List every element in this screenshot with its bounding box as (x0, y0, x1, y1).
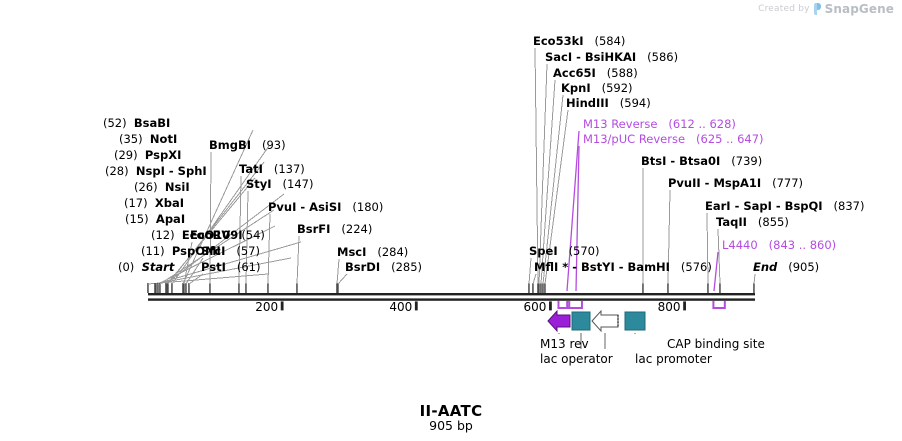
site-position: (180) (352, 200, 383, 214)
feature-glyph-arrow-left (548, 311, 570, 331)
feature-glyph-box (572, 312, 590, 330)
primer-leader-2 (714, 252, 718, 291)
site-name: BsrDI (345, 260, 380, 274)
site-label[interactable]: (15) ApaI (125, 213, 185, 226)
cut-mark-11 (185, 283, 187, 293)
feature-label[interactable]: lac operator (540, 352, 613, 366)
site-position: (285) (391, 260, 422, 274)
site-name: End (753, 260, 777, 274)
ruler-tick-400 (415, 301, 418, 310)
cut-mark-15 (245, 283, 247, 293)
primer-name: L4440 (722, 238, 758, 252)
site-name: Start (142, 260, 175, 274)
site-position: (29) (114, 148, 138, 162)
site-label[interactable]: Acc65I (588) (553, 67, 638, 80)
primer-range: (612 .. 628) (668, 117, 736, 131)
cut-mark-30 (719, 283, 721, 293)
cut-mark-8 (171, 283, 173, 293)
site-position: (588) (607, 66, 638, 80)
site-position: (35) (119, 132, 143, 146)
site-label[interactable]: Eco53kI (584) (533, 35, 625, 48)
leader-line-31 (754, 274, 755, 284)
cut-mark-21 (538, 283, 540, 293)
site-position: (12) (151, 228, 175, 242)
feature-label[interactable]: CAP binding site (667, 337, 765, 351)
ruler-label-200: 200 (255, 300, 278, 314)
ruler-label-600: 600 (524, 300, 547, 314)
site-position: (777) (772, 176, 803, 190)
cut-mark-23 (542, 283, 544, 293)
site-label[interactable]: End (905) (753, 261, 819, 274)
feature-label[interactable]: lac promoter (635, 352, 712, 366)
leader-line-0 (148, 274, 268, 284)
site-label[interactable]: (52) BsaBI (103, 117, 170, 130)
feature-glyph-box (625, 312, 645, 330)
cut-mark-2 (155, 283, 157, 293)
site-name: NotI (150, 132, 177, 146)
site-name: TaqII (716, 215, 747, 229)
site-position: (584) (594, 34, 625, 48)
site-name: ApaI (156, 212, 185, 226)
site-position: (26) (134, 180, 158, 194)
site-name: PvuII - MspA1I (668, 176, 761, 190)
site-label[interactable]: BsrFI (224) (297, 223, 372, 236)
primer-name: M13 Reverse (583, 117, 657, 131)
site-label[interactable]: BmgBI (93) (209, 139, 286, 152)
site-name: SacI - BsiHKAI (545, 50, 636, 64)
site-name: Acc65I (553, 66, 596, 80)
site-position: (0) (118, 260, 134, 274)
primer-range: (843 .. 860) (769, 238, 837, 252)
site-label[interactable]: PvuII - MspA1I (777) (668, 177, 803, 190)
site-position: (52) (103, 116, 127, 130)
site-name: NspI - SphI (136, 164, 207, 178)
construct-length: 905 bp (0, 418, 902, 433)
site-label[interactable]: EcoRV (54) (190, 229, 265, 242)
site-position: (147) (283, 177, 314, 191)
site-label[interactable]: (28) NspI - SphI (105, 165, 207, 178)
site-name: PspXI (145, 148, 181, 162)
cut-mark-3 (157, 283, 159, 293)
plasmid-map-canvas: Created by SnapGene 200400600800 (0) Sta… (0, 0, 902, 441)
site-name: EarI - SapI - BspQI (705, 199, 823, 213)
site-position: (739) (731, 154, 762, 168)
site-label[interactable]: MflI * - BstYI - BamHI (576) (534, 261, 712, 274)
cut-mark-28 (667, 283, 669, 293)
site-label[interactable]: HindIII (594) (566, 97, 651, 110)
site-position: (855) (758, 215, 789, 229)
cut-mark-0 (147, 283, 149, 293)
site-position: (594) (620, 96, 651, 110)
cut-mark-7 (167, 283, 169, 293)
site-name: Eco53kI (533, 34, 584, 48)
ruler-label-800: 800 (658, 300, 681, 314)
cut-mark-17 (296, 283, 298, 293)
site-name: HindIII (566, 96, 609, 110)
site-position: (93) (262, 138, 286, 152)
site-position: (592) (602, 81, 633, 95)
ruler-label-400: 400 (389, 300, 412, 314)
site-label[interactable]: (29) PspXI (114, 149, 181, 162)
site-name: NsiI (165, 180, 190, 194)
site-position: (28) (105, 164, 129, 178)
site-position: (284) (377, 245, 408, 259)
leader-line-16 (268, 214, 270, 284)
site-label[interactable]: (35) NotI (119, 133, 177, 146)
leader-line-26 (533, 274, 536, 284)
site-position: (905) (788, 260, 819, 274)
primer-range: (625 .. 647) (696, 132, 764, 146)
site-label[interactable]: (26) NsiI (134, 181, 190, 194)
site-position: (61) (237, 260, 261, 274)
cut-mark-19 (337, 283, 339, 293)
site-label[interactable]: StyI (147) (246, 178, 313, 191)
feature-glyph-arrow-open (592, 311, 618, 331)
site-label[interactable]: MscI (284) (337, 246, 408, 259)
primer-label[interactable]: M13 Reverse (612 .. 628) (583, 118, 736, 131)
site-position: (837) (834, 199, 865, 213)
cut-mark-13 (209, 283, 211, 293)
site-name: MflI * - BstYI - BamHI (534, 260, 670, 274)
cut-mark-29 (707, 283, 709, 293)
site-label[interactable]: PvuI - AsiSI (180) (268, 201, 383, 214)
cut-mark-26 (532, 283, 534, 293)
sequence-bar-top (148, 293, 755, 295)
leader-line-19 (338, 274, 347, 284)
site-label[interactable]: TaqII (855) (716, 216, 789, 229)
site-label[interactable]: TatI (137) (239, 163, 305, 176)
primer-label[interactable]: M13/pUC Reverse (625 .. 647) (583, 133, 764, 146)
site-position: (576) (681, 260, 712, 274)
site-name: EcoRV (190, 228, 230, 242)
cut-mark-31 (753, 283, 755, 293)
ruler-tick-600 (549, 301, 552, 310)
site-label[interactable]: BsrDI (285) (345, 261, 422, 274)
cut-mark-16 (267, 283, 269, 293)
feature-label[interactable]: M13 rev (540, 337, 589, 351)
site-label[interactable]: KpnI (592) (561, 82, 633, 95)
cut-mark-10 (183, 283, 185, 293)
primer-bracket-2 (713, 301, 724, 308)
site-position: (15) (125, 212, 149, 226)
cut-mark-27 (642, 283, 644, 293)
site-name: BmgBI (209, 138, 251, 152)
primer-label[interactable]: L4440 (843 .. 860) (722, 239, 836, 252)
site-label[interactable]: PstI (61) (201, 261, 260, 274)
site-name: BtsI - Btsa0I (641, 154, 720, 168)
site-name: PvuI - AsiSI (268, 200, 341, 214)
site-label[interactable]: SfcI (57) (201, 245, 260, 258)
cut-mark-25 (528, 283, 530, 293)
cut-mark-24 (544, 283, 546, 293)
leader-line-25 (529, 258, 531, 284)
site-position: (54) (241, 228, 265, 242)
cut-mark-12 (188, 283, 190, 293)
site-position: (17) (124, 196, 148, 210)
site-name: XbaI (155, 196, 184, 210)
site-name: TatI (239, 162, 263, 176)
site-position: (586) (647, 50, 678, 64)
ruler-tick-200 (281, 301, 284, 310)
cut-mark-4 (159, 283, 161, 293)
site-position: (570) (569, 244, 600, 258)
site-position: (57) (236, 244, 260, 258)
site-label[interactable]: EarI - SapI - BspQI (837) (705, 200, 864, 213)
cut-mark-14 (238, 283, 240, 293)
site-label[interactable]: BtsI - Btsa0I (739) (641, 155, 762, 168)
leader-line-30 (718, 229, 720, 284)
cut-mark-22 (540, 283, 542, 293)
site-label[interactable]: (17) XbaI (124, 197, 184, 210)
site-position: (224) (341, 222, 372, 236)
ruler-tick-800 (683, 301, 686, 310)
site-label[interactable]: SpeI (570) (529, 245, 600, 258)
site-name: SpeI (529, 244, 558, 258)
site-name: PstI (201, 260, 226, 274)
site-label[interactable]: (0) Start (118, 261, 174, 274)
site-name: SfcI (201, 244, 225, 258)
site-name: MscI (337, 245, 366, 259)
site-name: BsaBI (134, 116, 170, 130)
primer-name: M13/pUC Reverse (583, 132, 685, 146)
site-label[interactable]: SacI - BsiHKAI (586) (545, 51, 678, 64)
site-name: StyI (246, 177, 272, 191)
site-position: (137) (274, 162, 305, 176)
leader-line-18 (337, 259, 339, 284)
site-name: KpnI (561, 81, 591, 95)
site-position: (11) (141, 244, 165, 258)
site-name: BsrFI (297, 222, 330, 236)
